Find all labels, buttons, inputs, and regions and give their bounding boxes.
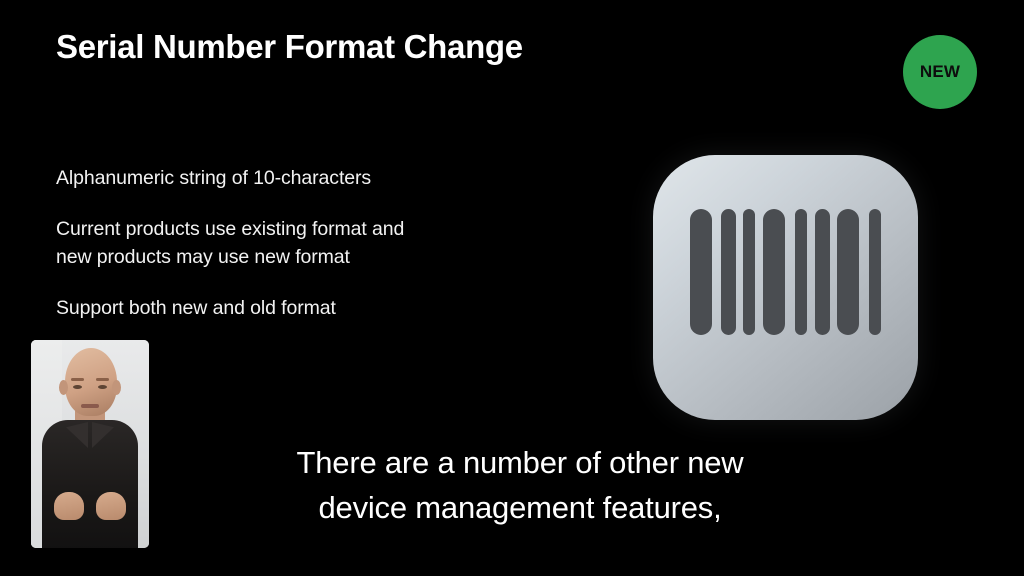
presenter-hand-left bbox=[54, 492, 84, 520]
caption-line-1: There are a number of other new bbox=[190, 440, 850, 485]
barcode-bar bbox=[815, 209, 830, 335]
presenter-brow-left bbox=[71, 378, 84, 381]
list-item: Support both new and old format bbox=[56, 294, 576, 322]
presenter-mouth bbox=[81, 404, 99, 408]
barcode-bar bbox=[795, 209, 807, 335]
list-item: Alphanumeric string of 10-characters bbox=[56, 164, 576, 192]
barcode-bar bbox=[837, 209, 859, 335]
presenter-brow-right bbox=[96, 378, 109, 381]
presenter-eye-left bbox=[73, 385, 82, 389]
presentation-slide: Serial Number Format Change NEW Alphanum… bbox=[0, 0, 1024, 576]
presenter-ear-left bbox=[59, 380, 68, 395]
presenter-hand-right bbox=[96, 492, 126, 520]
caption: There are a number of other new device m… bbox=[190, 440, 850, 530]
status-badge-label: NEW bbox=[920, 62, 960, 82]
status-badge: NEW bbox=[903, 35, 977, 109]
bullet-list: Alphanumeric string of 10-characters Cur… bbox=[56, 164, 576, 322]
barcode-bars bbox=[653, 155, 918, 420]
presenter-video-thumbnail[interactable] bbox=[31, 340, 149, 548]
barcode-bar bbox=[743, 209, 755, 335]
presenter-torso bbox=[42, 420, 138, 548]
barcode-bar bbox=[763, 209, 785, 335]
barcode-bar bbox=[721, 209, 736, 335]
list-item: Current products use existing format and… bbox=[56, 215, 576, 271]
barcode-bar bbox=[690, 209, 712, 335]
caption-line-2: device management features, bbox=[190, 485, 850, 530]
barcode-bar bbox=[869, 209, 881, 335]
page-title: Serial Number Format Change bbox=[56, 28, 523, 66]
barcode-icon bbox=[653, 155, 918, 420]
presenter-eye-right bbox=[98, 385, 107, 389]
presenter-ear-right bbox=[112, 380, 121, 395]
